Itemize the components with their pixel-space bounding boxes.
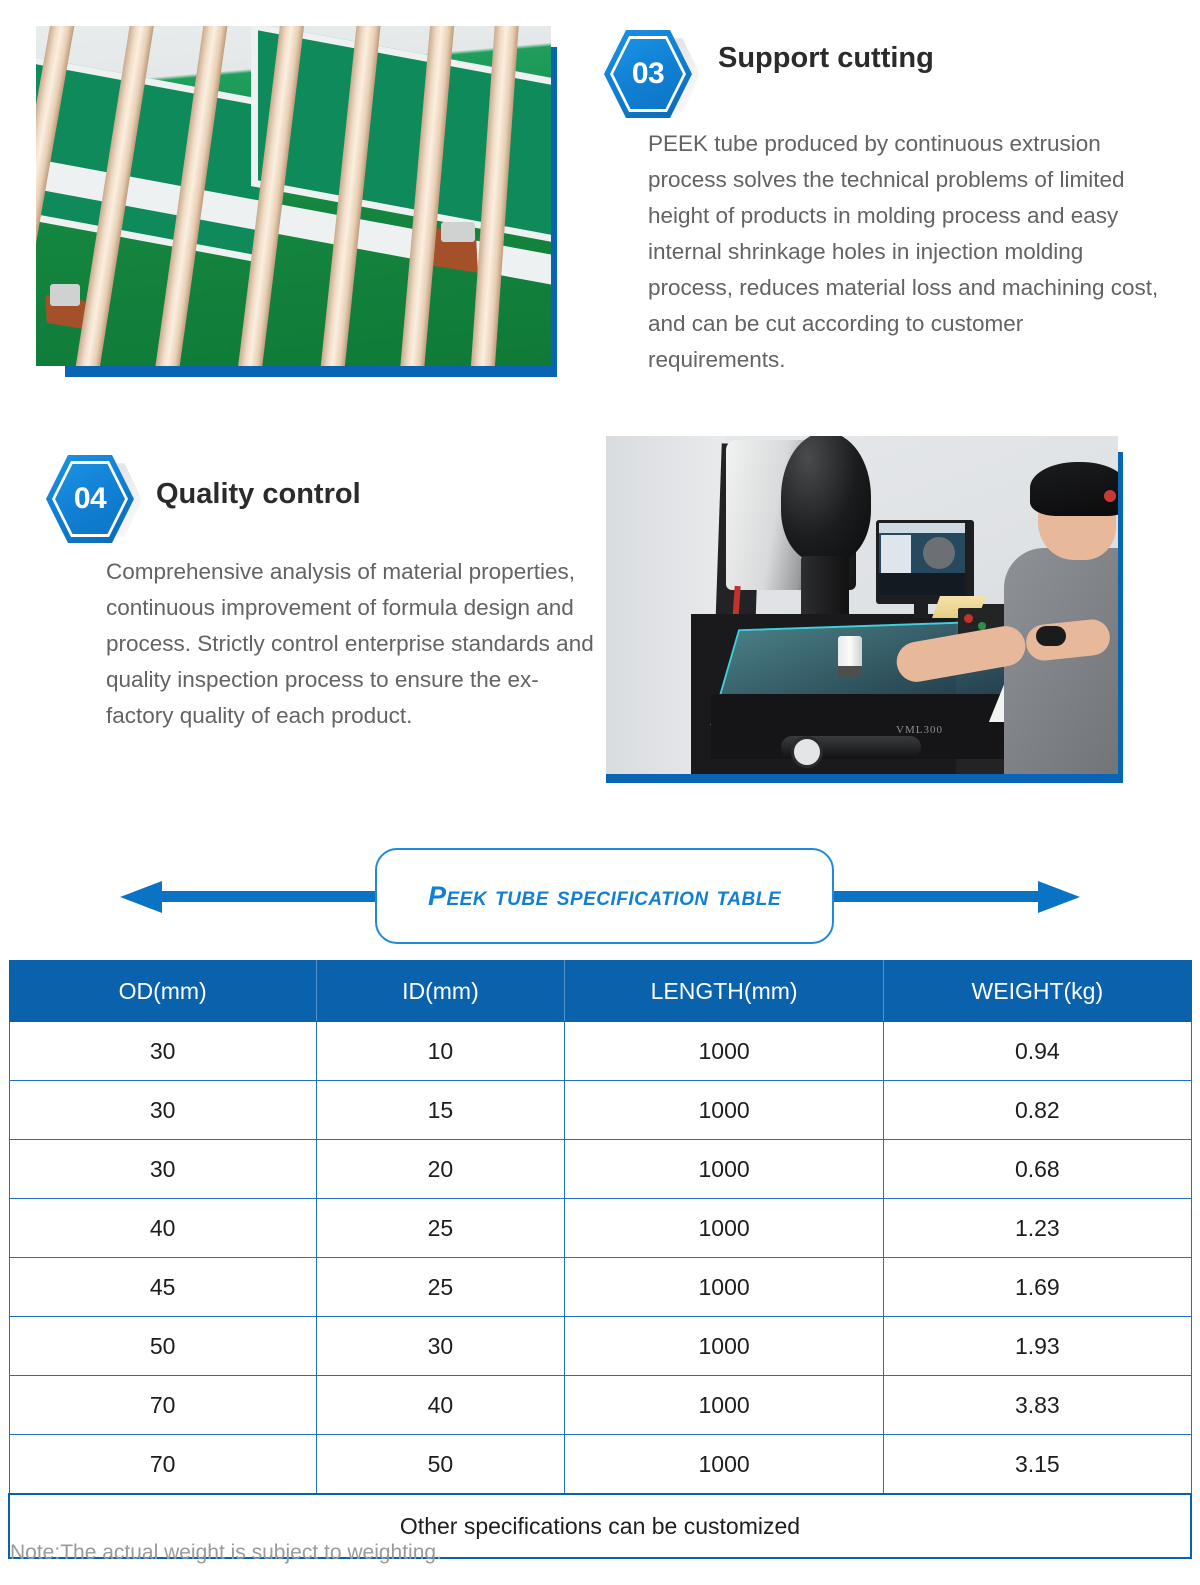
table-row: 704010003.83	[9, 1376, 1191, 1435]
cell-od: 70	[9, 1376, 316, 1435]
cell-id: 30	[316, 1317, 564, 1376]
column-header-length: LENGTH(mm)	[565, 961, 884, 1022]
section-title-support-cutting: Support cutting	[718, 42, 934, 75]
section-title-quality-control: Quality control	[156, 478, 361, 511]
table-row: 301010000.94	[9, 1022, 1191, 1081]
cell-length: 1000	[565, 1435, 884, 1495]
cell-weight: 0.94	[884, 1022, 1191, 1081]
cell-weight: 0.82	[884, 1081, 1191, 1140]
cell-weight: 0.68	[884, 1140, 1191, 1199]
stage-roller-end-cap	[791, 736, 823, 768]
cell-weight: 1.93	[884, 1317, 1191, 1376]
cell-od: 30	[9, 1081, 316, 1140]
cell-id: 10	[316, 1022, 564, 1081]
cell-id: 15	[316, 1081, 564, 1140]
tube-cap-right	[441, 222, 475, 242]
cell-length: 1000	[565, 1376, 884, 1435]
cell-od: 30	[9, 1140, 316, 1199]
arrow-right-icon	[1038, 881, 1080, 913]
cell-od: 70	[9, 1435, 316, 1495]
table-body: 301010000.94301510000.82302010000.684025…	[9, 1022, 1191, 1495]
cell-id: 50	[316, 1435, 564, 1495]
monitor-stand	[914, 596, 928, 618]
section-body-support-cutting: PEEK tube produced by continuous extrusi…	[648, 126, 1160, 378]
table-row: 705010003.15	[9, 1435, 1191, 1495]
computer-mouse	[1036, 626, 1066, 646]
cell-length: 1000	[565, 1317, 884, 1376]
banner-title: Peek tube specification table	[428, 881, 781, 912]
cell-weight: 1.23	[884, 1199, 1191, 1258]
cell-od: 30	[9, 1022, 316, 1081]
tube-cap-left	[50, 284, 80, 306]
section-body-quality-control: Comprehensive analysis of material prope…	[106, 554, 594, 734]
cell-length: 1000	[565, 1258, 884, 1317]
banner-label-box: Peek tube specification table	[375, 848, 834, 944]
monitor-screen	[879, 523, 965, 595]
product-spec-page: 03 Support cutting PEEK tube produced by…	[0, 0, 1200, 1585]
column-header-od: OD(mm)	[9, 961, 316, 1022]
specification-table: OD(mm) ID(mm) LENGTH(mm) WEIGHT(kg) 3010…	[8, 960, 1192, 1559]
section-number: 03	[632, 57, 664, 91]
cell-id: 25	[316, 1199, 564, 1258]
cell-weight: 1.69	[884, 1258, 1191, 1317]
cell-od: 50	[9, 1317, 316, 1376]
machine-model-label: VML300	[896, 724, 943, 736]
cell-length: 1000	[565, 1199, 884, 1258]
optical-head-shade	[781, 436, 871, 562]
cell-weight: 3.15	[884, 1435, 1191, 1495]
column-header-id: ID(mm)	[316, 961, 564, 1022]
column-header-weight: WEIGHT(kg)	[884, 961, 1191, 1022]
arrow-left-icon	[120, 881, 162, 913]
cell-id: 20	[316, 1140, 564, 1199]
cell-weight: 3.83	[884, 1376, 1191, 1435]
software-toolbar	[879, 523, 965, 533]
control-red-button	[964, 614, 973, 623]
software-preview-pane	[879, 573, 965, 595]
table-weight-note: Note:The actual weight is subject to wei…	[10, 1541, 442, 1565]
table-row: 302010000.68	[9, 1140, 1191, 1199]
sample-part	[838, 636, 862, 670]
table-row: 452510001.69	[9, 1258, 1191, 1317]
table-row: 503010001.93	[9, 1317, 1191, 1376]
cell-od: 45	[9, 1258, 316, 1317]
operator-cap	[1030, 462, 1118, 516]
table-header-row: OD(mm) ID(mm) LENGTH(mm) WEIGHT(kg)	[9, 961, 1191, 1022]
operator-body	[1004, 548, 1118, 774]
cell-id: 40	[316, 1376, 564, 1435]
section-number: 04	[74, 482, 106, 516]
cell-id: 25	[316, 1258, 564, 1317]
photo-peek-tubes	[36, 26, 551, 366]
cell-length: 1000	[565, 1081, 884, 1140]
table-row: 402510001.23	[9, 1199, 1191, 1258]
spec-table-banner: Peek tube specification table	[120, 848, 1080, 944]
cell-length: 1000	[565, 1022, 884, 1081]
table-row: 301510000.82	[9, 1081, 1191, 1140]
cap-logo	[1104, 490, 1116, 502]
photo-quality-inspection: VML300	[606, 436, 1118, 774]
sample-part-base	[838, 666, 862, 678]
cell-od: 40	[9, 1199, 316, 1258]
cell-length: 1000	[565, 1140, 884, 1199]
measured-circle-view	[923, 537, 955, 569]
